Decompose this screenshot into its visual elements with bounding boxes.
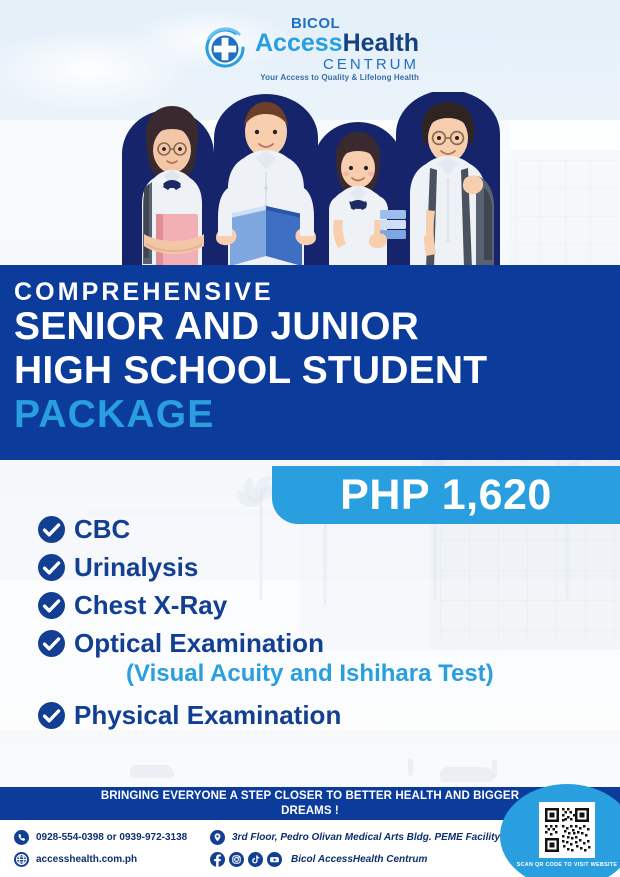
list-item: Urinalysis: [38, 548, 598, 586]
medical-cross-swoosh-icon: [201, 24, 249, 72]
instagram-icon[interactable]: [229, 852, 244, 867]
phone-icon: [14, 830, 29, 845]
list-item-label: Urinalysis: [74, 552, 198, 583]
logo-tagline: Your Access to Quality & Lifelong Health: [255, 74, 419, 82]
list-item-label: Chest X-Ray: [74, 590, 227, 621]
location-pin-icon: [210, 830, 225, 845]
website-url: accesshealth.com.ph: [36, 854, 137, 865]
phone-number: 0928-554-0398 or 0939-972-3138: [36, 832, 187, 843]
list-item-label: CBC: [74, 514, 130, 545]
logo-centrum-text: CENTRUM: [255, 57, 419, 74]
students-illustration: [108, 92, 512, 277]
list-item-label: Optical Examination: [74, 628, 324, 659]
title-line-2: HIGH SCHOOL STUDENT: [14, 349, 620, 393]
facebook-icon[interactable]: [210, 852, 225, 867]
address-text: 3rd Floor, Pedro Olivan Medical Arts Bld…: [232, 832, 500, 843]
check-circle-icon: [38, 702, 65, 729]
contact-phone-row[interactable]: 0928-554-0398 or 0939-972-3138: [14, 826, 187, 848]
youtube-icon[interactable]: [267, 852, 282, 867]
list-item-label: Physical Examination: [74, 700, 341, 731]
title-band: COMPREHENSIVE SENIOR AND JUNIOR HIGH SCH…: [0, 265, 620, 460]
globe-icon: [14, 852, 29, 867]
qr-code-icon[interactable]: [539, 802, 595, 858]
list-item: Physical Examination: [38, 696, 598, 734]
tiktok-icon[interactable]: [248, 852, 263, 867]
social-handle: Bicol AccessHealth Centrum: [291, 854, 427, 865]
check-circle-icon: [38, 592, 65, 619]
title-eyebrow: COMPREHENSIVE: [14, 279, 620, 305]
qr-caption: SCAN QR CODE TO VISIT WEBSITE: [517, 862, 618, 868]
brand-logo: BICOL AccessHealth CENTRUM Your Access t…: [0, 14, 620, 82]
contact-website-row[interactable]: accesshealth.com.ph: [14, 848, 187, 870]
check-circle-icon: [38, 516, 65, 543]
inclusions-checklist: CBC Urinalysis Chest X-Ray: [38, 510, 598, 734]
footer-tagline-text: BRINGING EVERYONE A STEP CLOSER TO BETTE…: [96, 789, 524, 817]
title-line-3-package: PACKAGE: [14, 393, 620, 437]
logo-health-text: Health: [343, 29, 419, 57]
list-item: Chest X-Ray: [38, 586, 598, 624]
poster-root: BICOL AccessHealth CENTRUM Your Access t…: [0, 0, 620, 877]
check-circle-icon: [38, 630, 65, 657]
title-line-1: SENIOR AND JUNIOR: [14, 305, 620, 349]
list-item-sublabel: (Visual Acuity and Ishihara Test): [126, 662, 598, 696]
contact-social-row[interactable]: Bicol AccessHealth Centrum: [210, 848, 500, 870]
list-item: Optical Examination: [38, 624, 598, 662]
check-circle-icon: [38, 554, 65, 581]
logo-wordmark: AccessHealth: [255, 29, 419, 57]
list-item: CBC: [38, 510, 598, 548]
social-icon-group: [210, 852, 282, 867]
logo-access-text: Access: [255, 29, 343, 57]
contact-address-row: 3rd Floor, Pedro Olivan Medical Arts Bld…: [210, 826, 500, 848]
